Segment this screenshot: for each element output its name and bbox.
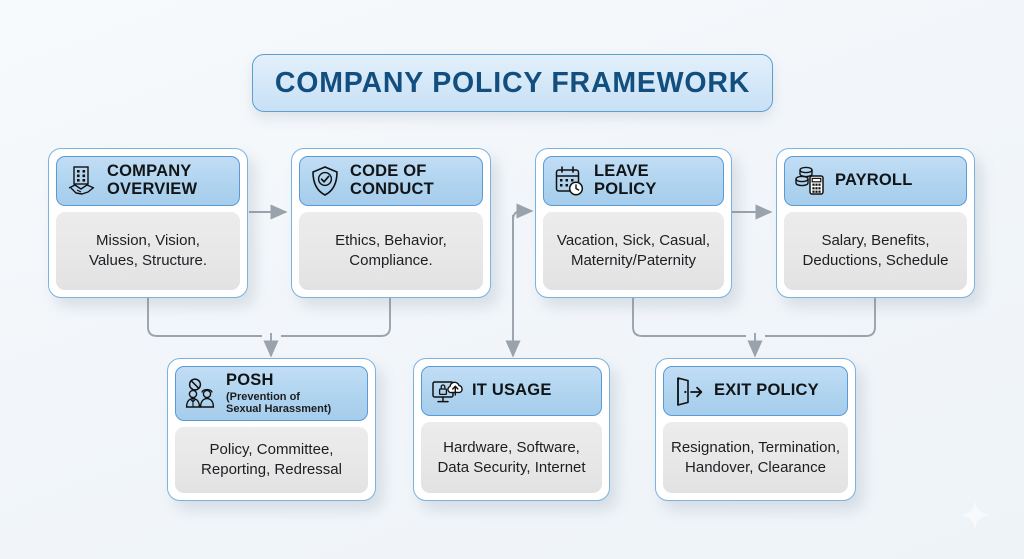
card-body-text: Ethics, Behavior, Compliance. bbox=[335, 231, 447, 271]
card-title-wrap: EXIT POLICY bbox=[714, 382, 819, 400]
shield-check-icon bbox=[308, 164, 342, 198]
card-body-text: Mission, Vision, Values, Structure. bbox=[89, 231, 207, 271]
connector-overview-down bbox=[148, 297, 262, 336]
card-subtitle: (Prevention of Sexual Harassment) bbox=[226, 391, 331, 416]
card-body-text: Resignation, Termination, Handover, Clea… bbox=[671, 438, 840, 478]
card-body: Resignation, Termination, Handover, Clea… bbox=[663, 422, 848, 493]
connector-leave-down bbox=[633, 297, 746, 336]
four-point-star-icon bbox=[958, 498, 992, 532]
card-body: Ethics, Behavior, Compliance. bbox=[299, 212, 483, 290]
card-body: Policy, Committee, Reporting, Redressal bbox=[175, 427, 368, 493]
card-title: COMPANY OVERVIEW bbox=[107, 163, 231, 199]
card-header: COMPANY OVERVIEW bbox=[56, 156, 240, 206]
calendar-clock-icon bbox=[552, 164, 586, 198]
card-leave-policy[interactable]: LEAVE POLICY Vacation, Sick, Casual, Mat… bbox=[535, 148, 732, 298]
card-title-wrap: LEAVE POLICY bbox=[594, 163, 715, 199]
card-company-overview[interactable]: COMPANY OVERVIEW Mission, Vision, Values… bbox=[48, 148, 248, 298]
card-title-wrap: POSH (Prevention of Sexual Harassment) bbox=[226, 372, 331, 415]
door-exit-icon bbox=[672, 374, 706, 408]
card-body-text: Vacation, Sick, Casual, Maternity/Patern… bbox=[557, 231, 710, 271]
card-header: LEAVE POLICY bbox=[543, 156, 724, 206]
card-body: Hardware, Software, Data Security, Inter… bbox=[421, 422, 602, 493]
card-title-wrap: IT USAGE bbox=[472, 382, 552, 400]
diagram-canvas: COMPANY POLICY FRAMEWORK bbox=[0, 0, 1024, 559]
card-body: Salary, Benefits, Deductions, Schedule bbox=[784, 212, 967, 290]
arrow-conduct-to-leave bbox=[513, 211, 532, 240]
card-header: IT USAGE bbox=[421, 366, 602, 416]
card-header: POSH (Prevention of Sexual Harassment) bbox=[175, 366, 368, 421]
card-payroll[interactable]: PAYROLL Salary, Benefits, Deductions, Sc… bbox=[776, 148, 975, 298]
building-handshake-icon bbox=[65, 164, 99, 198]
coins-calculator-icon bbox=[793, 164, 827, 198]
card-body-text: Policy, Committee, Reporting, Redressal bbox=[201, 440, 342, 480]
card-title: IT USAGE bbox=[472, 382, 552, 400]
page-title-banner: COMPANY POLICY FRAMEWORK bbox=[252, 54, 773, 112]
card-header: EXIT POLICY bbox=[663, 366, 848, 416]
card-title-wrap: PAYROLL bbox=[835, 172, 913, 190]
card-posh[interactable]: POSH (Prevention of Sexual Harassment) P… bbox=[167, 358, 376, 501]
card-body: Vacation, Sick, Casual, Maternity/Patern… bbox=[543, 212, 724, 290]
card-body: Mission, Vision, Values, Structure. bbox=[56, 212, 240, 290]
card-title: LEAVE POLICY bbox=[594, 163, 715, 199]
card-exit-policy[interactable]: EXIT POLICY Resignation, Termination, Ha… bbox=[655, 358, 856, 501]
card-header: CODE OF CONDUCT bbox=[299, 156, 483, 206]
card-body-text: Hardware, Software, Data Security, Inter… bbox=[437, 438, 585, 478]
card-it-usage[interactable]: IT USAGE Hardware, Software, Data Securi… bbox=[413, 358, 610, 501]
card-title: POSH bbox=[226, 372, 331, 390]
card-code-of-conduct[interactable]: CODE OF CONDUCT Ethics, Behavior, Compli… bbox=[291, 148, 491, 298]
card-title: CODE OF CONDUCT bbox=[350, 163, 474, 199]
card-title-wrap: COMPANY OVERVIEW bbox=[107, 163, 231, 199]
card-title: PAYROLL bbox=[835, 172, 913, 190]
page-title: COMPANY POLICY FRAMEWORK bbox=[275, 67, 750, 100]
card-body-text: Salary, Benefits, Deductions, Schedule bbox=[803, 231, 949, 271]
monitor-lock-cloud-icon bbox=[430, 374, 464, 408]
connector-payroll-down bbox=[765, 297, 875, 336]
card-title: EXIT POLICY bbox=[714, 382, 819, 400]
connector-conduct-down bbox=[281, 297, 390, 336]
card-title-wrap: CODE OF CONDUCT bbox=[350, 163, 474, 199]
people-prohibited-icon bbox=[184, 377, 218, 411]
card-header: PAYROLL bbox=[784, 156, 967, 206]
